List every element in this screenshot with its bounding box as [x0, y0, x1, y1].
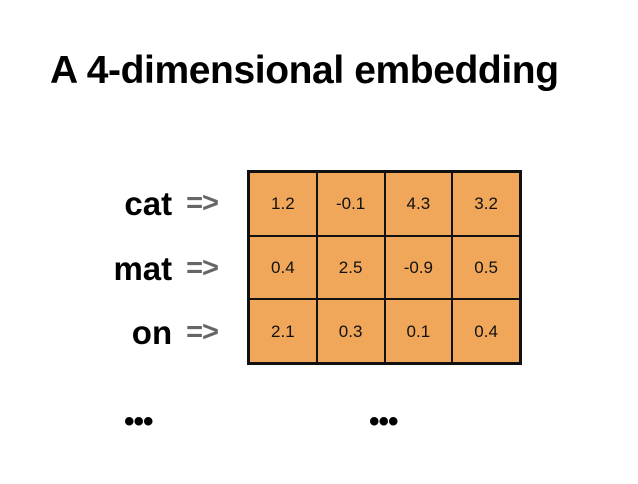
matrix-cell: 2.1	[250, 300, 318, 362]
ellipsis-values: •••	[369, 413, 398, 431]
page-title: A 4-dimensional embedding	[50, 48, 610, 94]
matrix-cell: 0.4	[453, 300, 519, 362]
matrix-cell: 2.5	[318, 237, 386, 299]
ellipsis-words: •••	[124, 413, 153, 431]
embedding-matrix: 1.2 -0.1 4.3 3.2 0.4 2.5 -0.9 0.5 2.1 0.…	[247, 170, 522, 365]
matrix-cell: 1.2	[250, 173, 318, 235]
table-row: 1.2 -0.1 4.3 3.2	[250, 173, 519, 237]
matrix-cell: 0.1	[386, 300, 454, 362]
table-row: 2.1 0.3 0.1 0.4	[250, 300, 519, 362]
matrix-cell: -0.1	[318, 173, 386, 235]
matrix-cell: 4.3	[386, 173, 454, 235]
word-label-cat: cat	[124, 187, 172, 220]
matrix-cell: 0.4	[250, 237, 318, 299]
word-label-row-mat: mat =>	[40, 236, 236, 301]
table-row: 0.4 2.5 -0.9 0.5	[250, 237, 519, 301]
word-label-row-cat: cat =>	[40, 171, 236, 236]
arrow-icon-mat: =>	[186, 254, 218, 283]
arrow-icon-on: =>	[186, 318, 218, 347]
matrix-cell: 3.2	[453, 173, 519, 235]
word-label-column: cat => mat => on =>	[40, 171, 236, 365]
word-label-mat: mat	[113, 252, 172, 285]
matrix-cell: -0.9	[386, 237, 454, 299]
slide-canvas: A 4-dimensional embedding cat => mat => …	[0, 0, 638, 484]
word-label-row-on: on =>	[40, 300, 236, 365]
arrow-icon-cat: =>	[186, 189, 218, 218]
matrix-cell: 0.5	[453, 237, 519, 299]
matrix-cell: 0.3	[318, 300, 386, 362]
word-label-on: on	[132, 316, 172, 349]
